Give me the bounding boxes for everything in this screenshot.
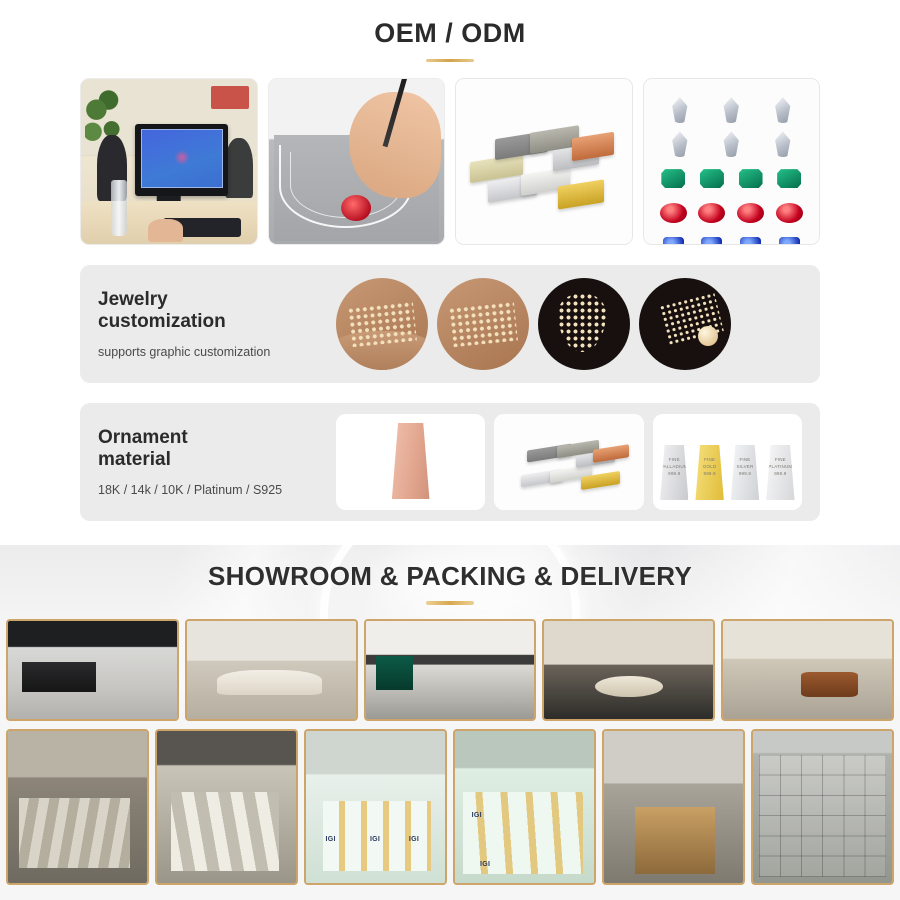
metal-bars-photo bbox=[455, 78, 633, 245]
oem-photo-row bbox=[0, 62, 900, 245]
jewelry-customization-text: Jewelry customization supports graphic c… bbox=[98, 289, 336, 360]
igi-badge: IGI bbox=[370, 836, 380, 843]
bar-label-4-line1: FINE bbox=[775, 457, 786, 462]
bar-label-2-line2: GOLD bbox=[703, 464, 717, 469]
igi-badge: IGI bbox=[325, 836, 335, 843]
bar-label-4-line2: PLATINUM bbox=[768, 464, 792, 469]
jewelry-subtitle: supports graphic customization bbox=[98, 345, 336, 359]
ornament-material-card: Ornament material 18K / 14k / 10K / Plat… bbox=[80, 403, 820, 521]
bar-label-1-line2: PALLADIUM bbox=[661, 464, 688, 469]
igi-packages-photo-2: IGI IGI bbox=[453, 729, 596, 885]
mixed-metal-bars-photo bbox=[494, 414, 643, 510]
workshop-photo bbox=[6, 729, 149, 885]
oem-odm-showroom-page: OEM / ODM bbox=[0, 0, 900, 900]
igi-badge: IGI bbox=[472, 812, 482, 819]
jewelry-title-line2: customization bbox=[98, 311, 226, 332]
showroom-photo-5 bbox=[721, 619, 894, 721]
igi-badge: IGI bbox=[480, 861, 490, 868]
packing-station-photo bbox=[155, 729, 298, 885]
hand-sketch-photo bbox=[268, 78, 446, 245]
storage-cabinets-photo bbox=[751, 729, 894, 885]
design-office-photo bbox=[80, 78, 258, 245]
earring-photo bbox=[538, 278, 630, 370]
ornament-panel-strip: FINE PALLADIUM 999.9 FINE GOLD 999.9 FIN… bbox=[336, 413, 802, 511]
showroom-photo-3 bbox=[364, 619, 537, 721]
labeled-bars-photo: FINE PALLADIUM 999.9 FINE GOLD 999.9 FIN… bbox=[653, 414, 802, 510]
showroom-photo-4 bbox=[542, 619, 715, 721]
shipping-photo bbox=[602, 729, 745, 885]
packing-photo-row: IGI IGI IGI IGI IGI bbox=[0, 721, 900, 885]
showroom-photo-1 bbox=[6, 619, 179, 721]
bar-label-1-line3: 999.9 bbox=[668, 471, 680, 476]
rose-gold-bar-photo bbox=[336, 414, 485, 510]
ornament-material-text: Ornament material 18K / 14k / 10K / Plat… bbox=[98, 427, 336, 498]
ornament-title-line1: Ornament bbox=[98, 427, 188, 448]
showroom-photo-2 bbox=[185, 619, 358, 721]
ornament-subtitle: 18K / 14k / 10K / Platinum / S925 bbox=[98, 483, 336, 497]
gemstones-photo bbox=[643, 78, 821, 245]
jewelry-photo-strip bbox=[336, 275, 802, 373]
showroom-section: SHOWROOM & PACKING & DELIVERY IGI IGI IG… bbox=[0, 545, 900, 900]
showroom-title: SHOWROOM & PACKING & DELIVERY bbox=[0, 545, 900, 592]
bar-label-3-line2: SILVER bbox=[737, 464, 754, 469]
bar-label-2-line1: FINE bbox=[704, 457, 715, 462]
bar-label-2-line3: 999.9 bbox=[704, 471, 716, 476]
jewelry-customization-card: Jewelry customization supports graphic c… bbox=[80, 265, 820, 383]
ring-photo bbox=[336, 278, 428, 370]
choker-photo bbox=[437, 278, 529, 370]
ornament-title-line2: material bbox=[98, 449, 171, 470]
igi-packages-photo-1: IGI IGI IGI bbox=[304, 729, 447, 885]
showroom-photo-row bbox=[0, 605, 900, 721]
bar-label-3-line1: FINE bbox=[739, 457, 750, 462]
bar-label-4-line3: 999.9 bbox=[774, 471, 786, 476]
necklace-photo bbox=[639, 278, 731, 370]
oem-section-header: OEM / ODM bbox=[0, 0, 900, 62]
jewelry-title-line1: Jewelry bbox=[98, 289, 168, 310]
igi-badge: IGI bbox=[409, 836, 419, 843]
bar-label-3-line3: 999.9 bbox=[739, 471, 751, 476]
bar-label-1-line1: FINE bbox=[669, 457, 680, 462]
page-title: OEM / ODM bbox=[0, 18, 900, 49]
